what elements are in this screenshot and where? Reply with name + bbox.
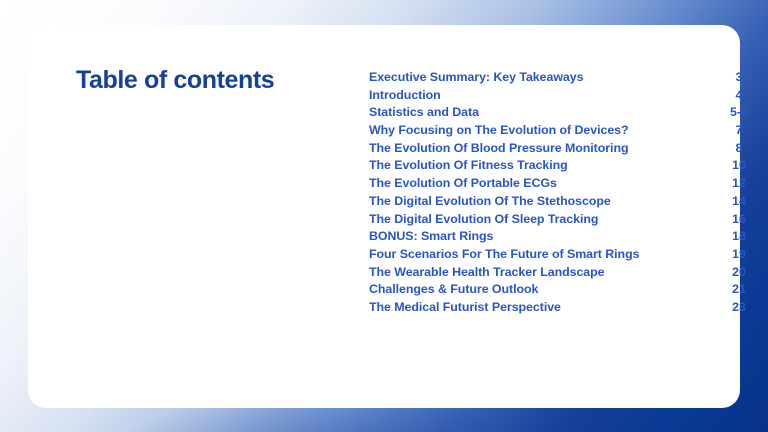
toc-entry[interactable]: The Evolution Of Portable ECGs12 [369, 176, 768, 194]
toc-entry-label[interactable]: The Evolution Of Blood Pressure Monitori… [369, 141, 628, 155]
toc-entry[interactable]: Executive Summary: Key Takeaways3 [369, 70, 768, 88]
toc-entry-label[interactable]: Why Focusing on The Evolution of Devices… [369, 123, 629, 137]
toc-entry-page-number: 23 [714, 300, 764, 314]
toc-entry-label[interactable]: The Evolution Of Portable ECGs [369, 176, 557, 190]
toc-entry-label[interactable]: Executive Summary: Key Takeaways [369, 70, 583, 84]
toc-entry[interactable]: Challenges & Future Outlook21 [369, 282, 768, 300]
toc-entry-page-number: 21 [714, 282, 764, 296]
toc-entry-label[interactable]: BONUS: Smart Rings [369, 229, 493, 243]
toc-entry-label[interactable]: Four Scenarios For The Future of Smart R… [369, 247, 639, 261]
toc-entry-label[interactable]: Statistics and Data [369, 105, 479, 119]
toc-entry-label[interactable]: The Digital Evolution Of The Stethoscope [369, 194, 611, 208]
toc-entry-page-number: 18 [714, 229, 764, 243]
toc-entry-page-number: 8 [714, 141, 764, 155]
toc-entry-label[interactable]: Introduction [369, 88, 441, 102]
toc-entry[interactable]: Introduction4 [369, 88, 768, 106]
toc-entry-page-number: 7 [714, 123, 764, 137]
toc-entry-page-number: 5-6 [714, 105, 764, 119]
slide-canvas: Table of contents Executive Summary: Key… [0, 0, 768, 432]
toc-entry[interactable]: The Digital Evolution Of Sleep Tracking1… [369, 212, 768, 230]
toc-entry[interactable]: The Digital Evolution Of The Stethoscope… [369, 194, 768, 212]
page-title: Table of contents [76, 66, 274, 95]
toc-entry[interactable]: The Medical Futurist Perspective23 [369, 300, 768, 318]
toc-entry-label[interactable]: The Evolution Of Fitness Tracking [369, 158, 568, 172]
toc-entry-page-number: 16 [714, 212, 764, 226]
toc-entry[interactable]: BONUS: Smart Rings18 [369, 229, 768, 247]
toc-entry-label[interactable]: The Medical Futurist Perspective [369, 300, 561, 314]
toc-entry[interactable]: Why Focusing on The Evolution of Devices… [369, 123, 768, 141]
toc-entry-page-number: 19 [714, 247, 764, 261]
toc-entry[interactable]: Four Scenarios For The Future of Smart R… [369, 247, 768, 265]
toc-entry[interactable]: The Evolution Of Fitness Tracking10 [369, 158, 768, 176]
toc-entry-page-number: 4 [714, 88, 764, 102]
toc-entry-label[interactable]: The Wearable Health Tracker Landscape [369, 265, 605, 279]
toc-entry[interactable]: The Wearable Health Tracker Landscape20 [369, 265, 768, 283]
toc-entry-page-number: 14 [714, 194, 764, 208]
toc-entry-label[interactable]: Challenges & Future Outlook [369, 282, 538, 296]
toc-entry[interactable]: Statistics and Data5-6 [369, 105, 768, 123]
toc-entry[interactable]: The Evolution Of Blood Pressure Monitori… [369, 141, 768, 159]
toc-entry-label[interactable]: The Digital Evolution Of Sleep Tracking [369, 212, 598, 226]
content-card: Table of contents Executive Summary: Key… [28, 25, 740, 408]
table-of-contents-list: Executive Summary: Key Takeaways3Introdu… [369, 70, 768, 318]
toc-entry-page-number: 12 [714, 176, 764, 190]
toc-entry-page-number: 3 [714, 70, 764, 84]
toc-entry-page-number: 20 [714, 265, 764, 279]
toc-entry-page-number: 10 [714, 158, 764, 172]
